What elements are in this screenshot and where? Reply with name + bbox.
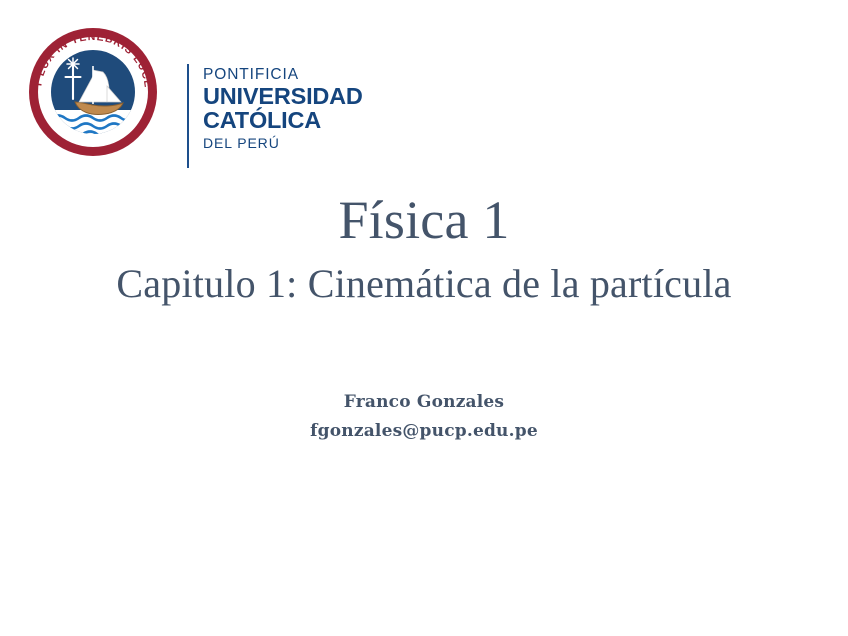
wordmark-line-pontificia: PONTIFICIA bbox=[203, 67, 383, 85]
author-email: fgonzales@pucp.edu.pe bbox=[0, 421, 848, 441]
slide-title: Física 1 bbox=[0, 190, 848, 250]
university-wordmark: PONTIFICIA UNIVERSIDAD CATÓLICA DEL PERÚ bbox=[203, 67, 383, 150]
presentation-slide: ET LUX IN TENEBRIS LUCET MCMXVII bbox=[0, 0, 848, 636]
university-logo-lockup: ET LUX IN TENEBRIS LUCET MCMXVII bbox=[27, 26, 347, 156]
wordmark-line-catolica: CATÓLICA bbox=[203, 109, 383, 134]
wordmark-line-del-peru: DEL PERÚ bbox=[203, 134, 383, 150]
slide-subtitle: Capitulo 1: Cinemática de la partícula bbox=[0, 260, 848, 308]
author-name: Franco Gonzales bbox=[0, 392, 848, 412]
pucp-seal-icon: ET LUX IN TENEBRIS LUCET MCMXVII bbox=[27, 26, 159, 158]
title-block: Física 1 Capitulo 1: Cinemática de la pa… bbox=[0, 190, 848, 308]
author-block: Franco Gonzales fgonzales@pucp.edu.pe bbox=[0, 392, 848, 442]
wordmark-line-universidad: UNIVERSIDAD bbox=[203, 85, 383, 110]
logo-divider bbox=[187, 64, 189, 168]
